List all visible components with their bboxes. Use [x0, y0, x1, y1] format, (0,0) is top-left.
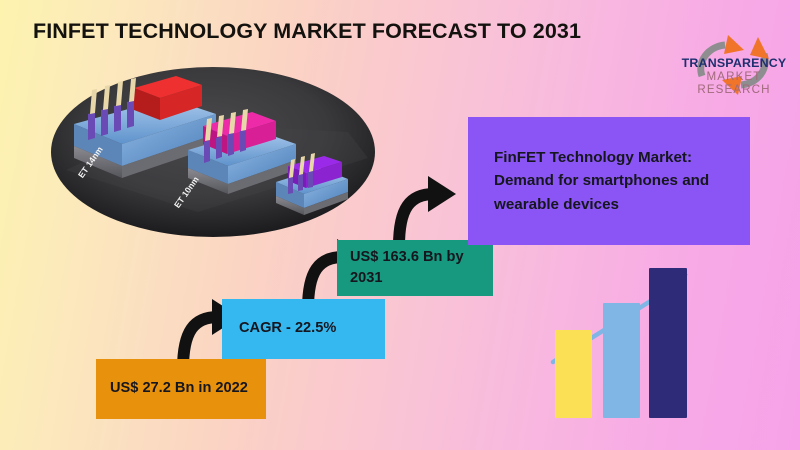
- bar-2: [603, 303, 640, 418]
- finfet-chip-illustration: ET 14nm ET 10nm: [48, 62, 378, 252]
- stat-box-cagr[interactable]: CAGR - 22.5%: [222, 299, 385, 359]
- stat-box-market-driver[interactable]: FinFET Technology Market: Demand for sma…: [468, 117, 750, 245]
- stat-box-label: FinFET Technology Market: Demand for sma…: [494, 146, 750, 215]
- bar-3: [649, 268, 687, 418]
- page-title: FINFET TECHNOLOGY MARKET FORECAST TO 203…: [33, 19, 581, 44]
- stat-box-market-size-2031[interactable]: US$ 163.6 Bn by 2031: [337, 240, 493, 296]
- stat-box-market-size-2022[interactable]: US$ 27.2 Bn in 2022: [96, 359, 266, 419]
- bar-1: [555, 330, 592, 418]
- company-logo[interactable]: TRANSPARENCY MARKET RESEARCH: [672, 32, 794, 98]
- stat-box-label: CAGR - 22.5%: [239, 319, 336, 338]
- stat-box-label: US$ 27.2 Bn in 2022: [110, 378, 248, 399]
- logo-line-1: TRANSPARENCY: [676, 56, 792, 70]
- stat-box-label: US$ 163.6 Bn by 2031: [350, 247, 493, 289]
- growth-bar-chart: [545, 258, 705, 418]
- logo-line-2: MARKET RESEARCH: [676, 70, 792, 96]
- infographic-canvas: FINFET TECHNOLOGY MARKET FORECAST TO 203…: [0, 0, 800, 450]
- flow-arrow-3-icon: [386, 170, 456, 248]
